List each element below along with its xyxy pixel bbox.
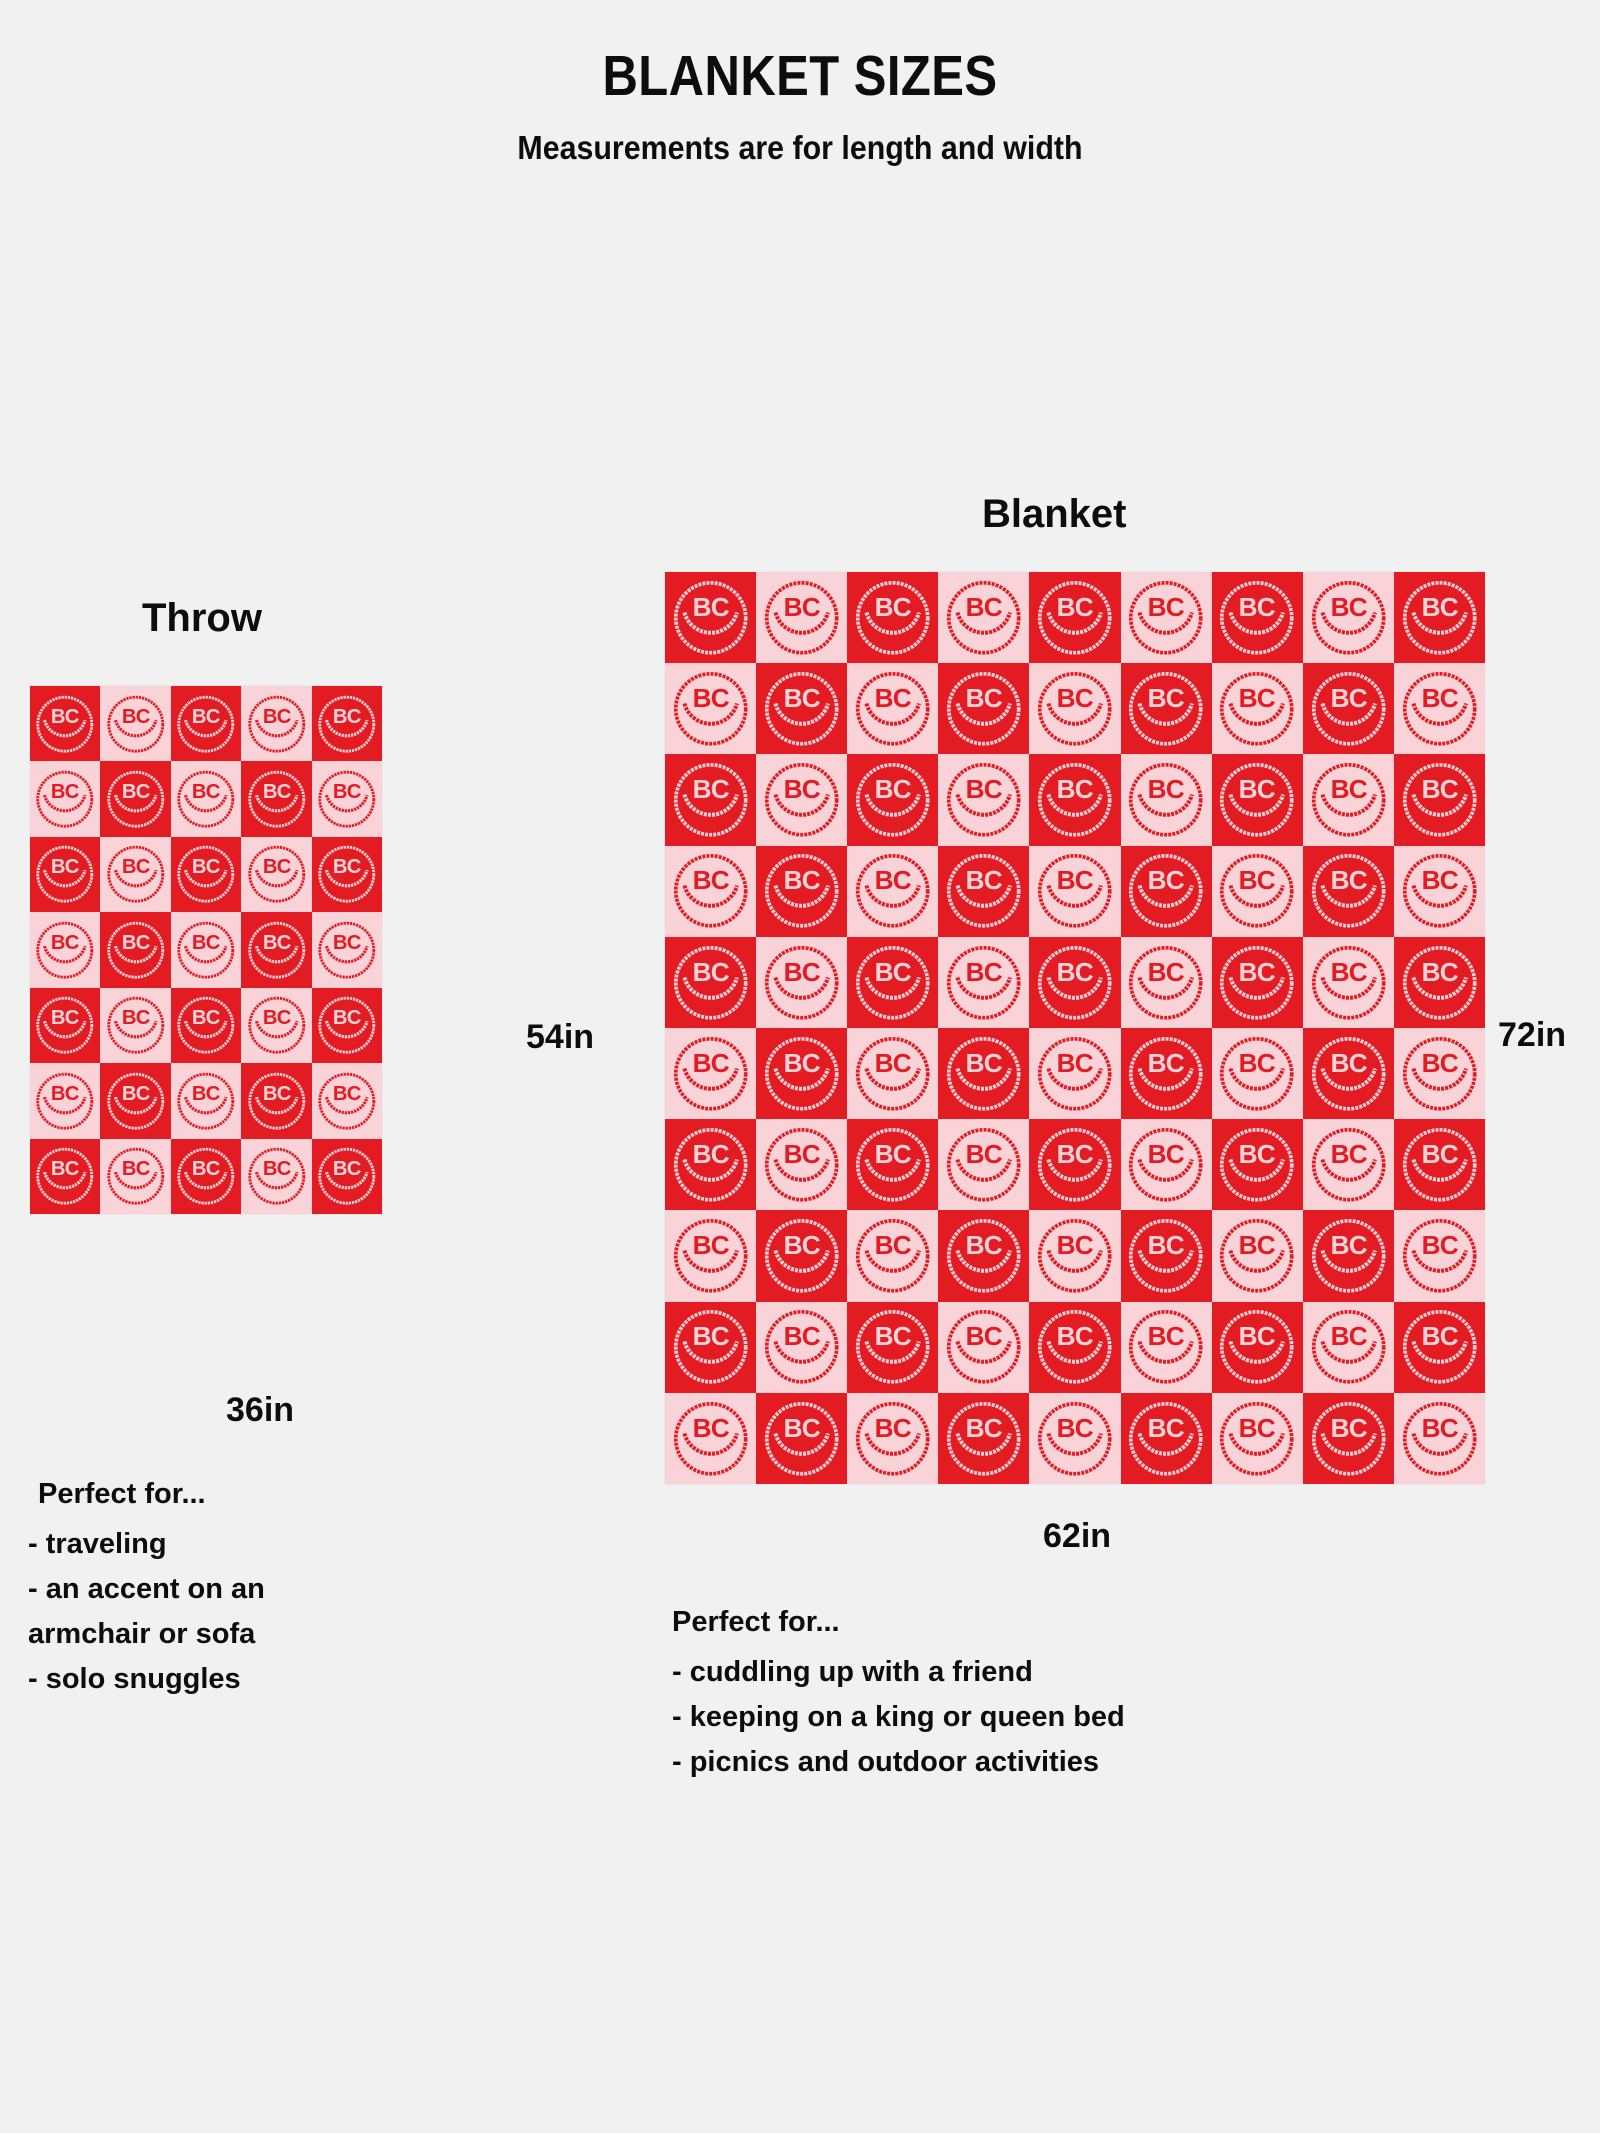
blanket-swatch: BCBCBCBCBCBCBCBCBCBCBCBCBCBCBCBCBCBCBCBC… (665, 572, 1485, 1484)
blanket-pattern-cell: BC (1029, 1302, 1120, 1393)
svg-text:BC: BC (333, 856, 362, 878)
svg-text:BC: BC (1330, 1139, 1367, 1169)
blanket-pattern-cell: BC (665, 754, 756, 845)
svg-text:BC: BC (1330, 683, 1367, 713)
smiley-face-bc-icon: BC (243, 989, 311, 1061)
blanket-pattern-cell: BC (171, 686, 241, 761)
blanket-pattern-cell: BC (241, 912, 311, 987)
svg-text:BC: BC (1057, 957, 1094, 987)
smiley-face-bc-icon: BC (102, 1140, 170, 1212)
svg-text:BC: BC (192, 1007, 221, 1029)
svg-text:BC: BC (51, 1158, 80, 1180)
smiley-face-bc-icon: BC (102, 989, 170, 1061)
blanket-pattern-cell: BC (665, 663, 756, 754)
svg-text:BC: BC (122, 1007, 151, 1029)
blanket-pattern-cell: BC (1212, 1393, 1303, 1484)
smiley-face-bc-icon: BC (1396, 1212, 1483, 1300)
blanket-pattern-cell: BC (30, 837, 100, 912)
svg-text:BC: BC (1057, 1413, 1094, 1443)
blanket-pattern-cell: BC (756, 1302, 847, 1393)
throw-use-item: armchair or sofa (28, 1616, 428, 1653)
smiley-face-bc-icon: BC (1213, 665, 1300, 753)
blanket-pattern-cell: BC (1212, 754, 1303, 845)
svg-text:BC: BC (692, 1139, 729, 1169)
svg-text:BC: BC (1148, 957, 1185, 987)
svg-text:BC: BC (122, 856, 151, 878)
svg-text:BC: BC (122, 781, 151, 803)
svg-text:BC: BC (1421, 957, 1458, 987)
smiley-face-bc-icon: BC (1031, 1395, 1118, 1483)
smiley-face-bc-icon: BC (1031, 1030, 1118, 1118)
page-title: BLANKET SIZES (112, 0, 1488, 105)
blanket-pattern-cell: BC (1303, 937, 1394, 1028)
svg-text:BC: BC (1421, 1230, 1458, 1260)
smiley-face-bc-icon: BC (1305, 847, 1392, 935)
blanket-pattern-cell: BC (1029, 1028, 1120, 1119)
blanket-pattern-cell: BC (100, 988, 170, 1063)
blanket-pattern-cell: BC (938, 937, 1029, 1028)
svg-text:BC: BC (784, 1321, 821, 1351)
smiley-face-bc-icon: BC (1213, 1303, 1300, 1391)
svg-text:BC: BC (192, 781, 221, 803)
blanket-pattern-cell: BC (30, 1139, 100, 1214)
svg-text:BC: BC (1239, 592, 1276, 622)
blanket-pattern-cell: BC (756, 754, 847, 845)
blanket-pattern-cell: BC (312, 1139, 382, 1214)
smiley-face-bc-icon: BC (667, 1030, 754, 1118)
smiley-face-bc-icon: BC (758, 939, 845, 1027)
blanket-pattern-cell: BC (30, 988, 100, 1063)
svg-text:BC: BC (1148, 683, 1185, 713)
svg-text:BC: BC (1239, 865, 1276, 895)
blanket-pattern-cell: BC (1212, 663, 1303, 754)
svg-text:BC: BC (333, 1007, 362, 1029)
blanket-pattern-cell: BC (1121, 754, 1212, 845)
svg-text:BC: BC (1421, 865, 1458, 895)
svg-text:BC: BC (784, 774, 821, 804)
blanket-pattern-cell: BC (1394, 937, 1485, 1028)
throw-title: Throw (142, 598, 262, 638)
smiley-face-bc-icon: BC (667, 939, 754, 1027)
blanket-pattern-cell: BC (756, 1028, 847, 1119)
svg-text:BC: BC (122, 1158, 151, 1180)
blanket-pattern-cell: BC (1212, 1119, 1303, 1210)
svg-text:BC: BC (192, 1158, 221, 1180)
smiley-face-bc-icon: BC (940, 847, 1027, 935)
blanket-pattern-cell: BC (171, 1139, 241, 1214)
svg-text:BC: BC (1239, 1048, 1276, 1078)
blanket-pattern-cell: BC (312, 1063, 382, 1138)
smiley-face-bc-icon: BC (1305, 1121, 1392, 1209)
blanket-pattern-cell: BC (1029, 1210, 1120, 1301)
svg-text:BC: BC (692, 592, 729, 622)
blanket-width-measurement: 62in (1043, 1519, 1111, 1553)
blanket-pattern-cell: BC (30, 761, 100, 836)
smiley-face-bc-icon: BC (1031, 756, 1118, 844)
svg-text:BC: BC (262, 932, 291, 954)
blanket-pattern-cell: BC (756, 572, 847, 663)
smiley-face-bc-icon: BC (758, 1212, 845, 1300)
smiley-face-bc-icon: BC (849, 1121, 936, 1209)
smiley-face-bc-icon: BC (940, 1212, 1027, 1300)
blanket-pattern-cell: BC (30, 1063, 100, 1138)
blanket-pattern-cell: BC (1303, 572, 1394, 663)
blanket-pattern-cell: BC (1121, 846, 1212, 937)
blanket-pattern-cell: BC (100, 1139, 170, 1214)
blanket-pattern-cell: BC (756, 1119, 847, 1210)
smiley-face-bc-icon: BC (1031, 1121, 1118, 1209)
smiley-face-bc-icon: BC (31, 989, 99, 1061)
svg-text:BC: BC (262, 1158, 291, 1180)
svg-text:BC: BC (784, 1048, 821, 1078)
svg-text:BC: BC (1148, 1321, 1185, 1351)
blanket-pattern-cell: BC (1121, 1210, 1212, 1301)
blanket-pattern-cell: BC (847, 754, 938, 845)
smiley-face-bc-icon: BC (940, 939, 1027, 1027)
smiley-face-bc-icon: BC (1396, 1303, 1483, 1391)
smiley-face-bc-icon: BC (849, 1303, 936, 1391)
svg-text:BC: BC (1330, 1413, 1367, 1443)
svg-text:BC: BC (1239, 1139, 1276, 1169)
throw-height-measurement: 54in (526, 1020, 594, 1054)
blanket-pattern-cell: BC (1121, 1119, 1212, 1210)
smiley-face-bc-icon: BC (1031, 665, 1118, 753)
blanket-pattern-cell: BC (241, 686, 311, 761)
svg-text:BC: BC (1421, 1048, 1458, 1078)
smiley-face-bc-icon: BC (1396, 1121, 1483, 1209)
blanket-pattern-cell: BC (1029, 846, 1120, 937)
smiley-face-bc-icon: BC (102, 688, 170, 760)
smiley-face-bc-icon: BC (849, 756, 936, 844)
svg-text:BC: BC (875, 1321, 912, 1351)
svg-text:BC: BC (692, 1048, 729, 1078)
throw-blanket-swatch: BCBCBCBCBCBCBCBCBCBCBCBCBCBCBCBCBCBCBCBC… (30, 686, 382, 1214)
svg-text:BC: BC (1330, 1230, 1367, 1260)
blanket-pattern-cell: BC (1212, 846, 1303, 937)
throw-use-item: - traveling (28, 1526, 428, 1563)
blanket-pattern-cell: BC (312, 988, 382, 1063)
svg-text:BC: BC (692, 1413, 729, 1443)
smiley-face-bc-icon: BC (940, 574, 1027, 662)
svg-text:BC: BC (333, 781, 362, 803)
smiley-face-bc-icon: BC (243, 914, 311, 986)
svg-text:BC: BC (875, 774, 912, 804)
smiley-face-bc-icon: BC (758, 1121, 845, 1209)
smiley-face-bc-icon: BC (313, 914, 381, 986)
svg-text:BC: BC (966, 774, 1003, 804)
smiley-face-bc-icon: BC (1396, 574, 1483, 662)
smiley-face-bc-icon: BC (758, 574, 845, 662)
blanket-pattern-cell: BC (847, 1302, 938, 1393)
smiley-face-bc-icon: BC (243, 1065, 311, 1137)
svg-text:BC: BC (966, 1413, 1003, 1443)
blanket-pattern-cell: BC (938, 663, 1029, 754)
svg-text:BC: BC (122, 705, 151, 727)
blanket-pattern-cell: BC (665, 846, 756, 937)
blanket-pattern-cell: BC (847, 663, 938, 754)
blanket-pattern-cell: BC (241, 988, 311, 1063)
blanket-pattern-cell: BC (1303, 1393, 1394, 1484)
smiley-face-bc-icon: BC (102, 914, 170, 986)
blanket-pattern-cell: BC (1394, 1210, 1485, 1301)
smiley-face-bc-icon: BC (1122, 574, 1209, 662)
blanket-pattern-cell: BC (756, 1393, 847, 1484)
blanket-pattern-cell: BC (171, 761, 241, 836)
blanket-pattern-cell: BC (938, 754, 1029, 845)
smiley-face-bc-icon: BC (1031, 939, 1118, 1027)
blanket-pattern-cell: BC (938, 1028, 1029, 1119)
svg-text:BC: BC (192, 932, 221, 954)
smiley-face-bc-icon: BC (1213, 756, 1300, 844)
smiley-face-bc-icon: BC (1213, 939, 1300, 1027)
smiley-face-bc-icon: BC (1396, 756, 1483, 844)
svg-text:BC: BC (966, 1139, 1003, 1169)
svg-text:BC: BC (966, 1321, 1003, 1351)
blanket-pattern-cell: BC (1212, 1302, 1303, 1393)
smiley-face-bc-icon: BC (1305, 1303, 1392, 1391)
blanket-pattern-cell: BC (171, 912, 241, 987)
blanket-pattern-cell: BC (241, 837, 311, 912)
smiley-face-bc-icon: BC (243, 1140, 311, 1212)
svg-text:BC: BC (1148, 1048, 1185, 1078)
svg-text:BC: BC (692, 774, 729, 804)
svg-text:BC: BC (51, 705, 80, 727)
svg-text:BC: BC (784, 683, 821, 713)
svg-text:BC: BC (262, 781, 291, 803)
smiley-face-bc-icon: BC (313, 838, 381, 910)
svg-text:BC: BC (1057, 683, 1094, 713)
smiley-face-bc-icon: BC (31, 1065, 99, 1137)
blanket-pattern-cell: BC (1394, 846, 1485, 937)
blanket-pattern-cell: BC (665, 1302, 756, 1393)
svg-text:BC: BC (784, 1413, 821, 1443)
svg-text:BC: BC (1057, 865, 1094, 895)
blanket-pattern-cell: BC (756, 663, 847, 754)
svg-text:BC: BC (1421, 592, 1458, 622)
blanket-pattern-cell: BC (756, 937, 847, 1028)
blanket-pattern-cell: BC (1303, 846, 1394, 937)
svg-text:BC: BC (1057, 1139, 1094, 1169)
blanket-uses-block: Perfect for... - cuddling up with a frie… (672, 1608, 1332, 1789)
smiley-face-bc-icon: BC (102, 1065, 170, 1137)
blanket-height-measurement: 72in (1498, 1018, 1566, 1052)
blanket-pattern-cell: BC (1121, 1028, 1212, 1119)
blanket-uses-heading: Perfect for... (672, 1608, 1332, 1637)
blanket-pattern-cell: BC (1212, 1028, 1303, 1119)
svg-text:BC: BC (1057, 1048, 1094, 1078)
smiley-face-bc-icon: BC (1305, 574, 1392, 662)
smiley-face-bc-icon: BC (1031, 1212, 1118, 1300)
smiley-face-bc-icon: BC (1213, 1212, 1300, 1300)
svg-text:BC: BC (1057, 774, 1094, 804)
smiley-face-bc-icon: BC (1396, 665, 1483, 753)
blanket-pattern-cell: BC (1029, 937, 1120, 1028)
svg-text:BC: BC (1057, 1230, 1094, 1260)
blanket-pattern-cell: BC (241, 761, 311, 836)
smiley-face-bc-icon: BC (758, 1303, 845, 1391)
smiley-face-bc-icon: BC (1031, 574, 1118, 662)
smiley-face-bc-icon: BC (313, 688, 381, 760)
blanket-pattern-cell: BC (1212, 937, 1303, 1028)
blanket-pattern-cell: BC (665, 1028, 756, 1119)
smiley-face-bc-icon: BC (1122, 1030, 1209, 1118)
blanket-pattern-cell: BC (312, 837, 382, 912)
smiley-face-bc-icon: BC (667, 1212, 754, 1300)
smiley-face-bc-icon: BC (1122, 756, 1209, 844)
smiley-face-bc-icon: BC (667, 1303, 754, 1391)
smiley-face-bc-icon: BC (849, 1212, 936, 1300)
svg-text:BC: BC (1239, 957, 1276, 987)
smiley-face-bc-icon: BC (31, 763, 99, 835)
blanket-pattern-cell: BC (241, 1139, 311, 1214)
blanket-pattern-cell: BC (847, 937, 938, 1028)
svg-text:BC: BC (875, 683, 912, 713)
blanket-pattern-cell: BC (1212, 572, 1303, 663)
blanket-pattern-cell: BC (847, 1119, 938, 1210)
blanket-pattern-cell: BC (1029, 1393, 1120, 1484)
blanket-pattern-cell: BC (171, 988, 241, 1063)
smiley-face-bc-icon: BC (667, 574, 754, 662)
blanket-pattern-cell: BC (312, 912, 382, 987)
smiley-face-bc-icon: BC (940, 1395, 1027, 1483)
svg-text:BC: BC (1148, 592, 1185, 622)
blanket-pattern-cell: BC (665, 1210, 756, 1301)
smiley-face-bc-icon: BC (1031, 847, 1118, 935)
svg-text:BC: BC (784, 1230, 821, 1260)
blanket-pattern-cell: BC (100, 686, 170, 761)
blanket-pattern-cell: BC (847, 1393, 938, 1484)
svg-text:BC: BC (1330, 1048, 1367, 1078)
svg-text:BC: BC (1330, 592, 1367, 622)
blanket-pattern-cell: BC (1121, 572, 1212, 663)
svg-text:BC: BC (1148, 1139, 1185, 1169)
smiley-face-bc-icon: BC (1122, 847, 1209, 935)
svg-text:BC: BC (1148, 774, 1185, 804)
svg-text:BC: BC (333, 1158, 362, 1180)
smiley-face-bc-icon: BC (172, 1065, 240, 1137)
smiley-face-bc-icon: BC (1305, 1395, 1392, 1483)
blanket-pattern-cell: BC (1029, 754, 1120, 845)
svg-text:BC: BC (333, 705, 362, 727)
smiley-face-bc-icon: BC (1396, 1395, 1483, 1483)
svg-text:BC: BC (966, 592, 1003, 622)
blanket-pattern-cell: BC (1394, 663, 1485, 754)
svg-text:BC: BC (784, 957, 821, 987)
blanket-pattern-cell: BC (1121, 937, 1212, 1028)
throw-width-measurement: 36in (226, 1393, 294, 1427)
smiley-face-bc-icon: BC (1396, 847, 1483, 935)
blanket-pattern-cell: BC (847, 1028, 938, 1119)
smiley-face-bc-icon: BC (667, 1121, 754, 1209)
svg-text:BC: BC (1330, 774, 1367, 804)
smiley-face-bc-icon: BC (313, 763, 381, 835)
blanket-pattern-cell: BC (1212, 1210, 1303, 1301)
smiley-face-bc-icon: BC (31, 688, 99, 760)
blanket-pattern-cell: BC (1394, 754, 1485, 845)
svg-text:BC: BC (692, 865, 729, 895)
blanket-pattern-cell: BC (1394, 1302, 1485, 1393)
smiley-face-bc-icon: BC (758, 756, 845, 844)
smiley-face-bc-icon: BC (1213, 1121, 1300, 1209)
smiley-face-bc-icon: BC (758, 1395, 845, 1483)
smiley-face-bc-icon: BC (1305, 665, 1392, 753)
blanket-pattern-cell: BC (938, 1393, 1029, 1484)
blanket-pattern-cell: BC (938, 846, 1029, 937)
smiley-face-bc-icon: BC (1396, 1030, 1483, 1118)
smiley-face-bc-icon: BC (940, 756, 1027, 844)
svg-text:BC: BC (875, 1230, 912, 1260)
blanket-pattern-cell: BC (171, 1063, 241, 1138)
smiley-face-bc-icon: BC (1305, 756, 1392, 844)
svg-text:BC: BC (1239, 1230, 1276, 1260)
smiley-face-bc-icon: BC (940, 1030, 1027, 1118)
smiley-face-bc-icon: BC (1213, 574, 1300, 662)
smiley-face-bc-icon: BC (758, 847, 845, 935)
throw-use-item: - solo snuggles (28, 1661, 428, 1698)
smiley-face-bc-icon: BC (667, 665, 754, 753)
blanket-pattern-cell: BC (100, 1063, 170, 1138)
svg-text:BC: BC (1057, 1321, 1094, 1351)
throw-uses-list: - traveling- an accent on anarmchair or … (28, 1526, 428, 1698)
blanket-pattern-cell: BC (1303, 1028, 1394, 1119)
svg-text:BC: BC (966, 1230, 1003, 1260)
smiley-face-bc-icon: BC (940, 1303, 1027, 1391)
smiley-face-bc-icon: BC (849, 847, 936, 935)
svg-text:BC: BC (875, 592, 912, 622)
smiley-face-bc-icon: BC (849, 1395, 936, 1483)
blanket-pattern-cell: BC (847, 846, 938, 937)
smiley-face-bc-icon: BC (1213, 1030, 1300, 1118)
svg-text:BC: BC (51, 1007, 80, 1029)
blanket-pattern-cell: BC (1303, 1210, 1394, 1301)
blanket-pattern-cell: BC (1303, 1119, 1394, 1210)
smiley-face-bc-icon: BC (667, 756, 754, 844)
blanket-pattern-cell: BC (1029, 1119, 1120, 1210)
smiley-face-bc-icon: BC (940, 665, 1027, 753)
blanket-pattern-cell: BC (312, 686, 382, 761)
svg-text:BC: BC (51, 1082, 80, 1104)
blanket-pattern-cell: BC (30, 686, 100, 761)
blanket-pattern-cell: BC (1121, 663, 1212, 754)
throw-uses-heading: Perfect for... (28, 1480, 428, 1509)
blanket-pattern-cell: BC (665, 937, 756, 1028)
smiley-face-bc-icon: BC (102, 838, 170, 910)
svg-text:BC: BC (51, 856, 80, 878)
smiley-face-bc-icon: BC (31, 1140, 99, 1212)
svg-text:BC: BC (1239, 774, 1276, 804)
svg-text:BC: BC (875, 1139, 912, 1169)
blanket-pattern-cell: BC (1394, 1028, 1485, 1119)
blanket-pattern-cell: BC (756, 846, 847, 937)
blanket-title: Blanket (982, 494, 1127, 534)
smiley-face-bc-icon: BC (1305, 1212, 1392, 1300)
svg-text:BC: BC (966, 865, 1003, 895)
smiley-face-bc-icon: BC (172, 838, 240, 910)
svg-text:BC: BC (333, 1082, 362, 1104)
blanket-pattern-cell: BC (241, 1063, 311, 1138)
blanket-pattern-cell: BC (665, 1393, 756, 1484)
svg-text:BC: BC (122, 1082, 151, 1104)
smiley-face-bc-icon: BC (849, 574, 936, 662)
svg-text:BC: BC (1421, 1413, 1458, 1443)
blanket-pattern-cell: BC (1303, 663, 1394, 754)
svg-text:BC: BC (784, 865, 821, 895)
smiley-face-bc-icon: BC (172, 914, 240, 986)
smiley-face-bc-icon: BC (243, 838, 311, 910)
smiley-face-bc-icon: BC (1396, 939, 1483, 1027)
smiley-face-bc-icon: BC (172, 1140, 240, 1212)
smiley-face-bc-icon: BC (1122, 1303, 1209, 1391)
